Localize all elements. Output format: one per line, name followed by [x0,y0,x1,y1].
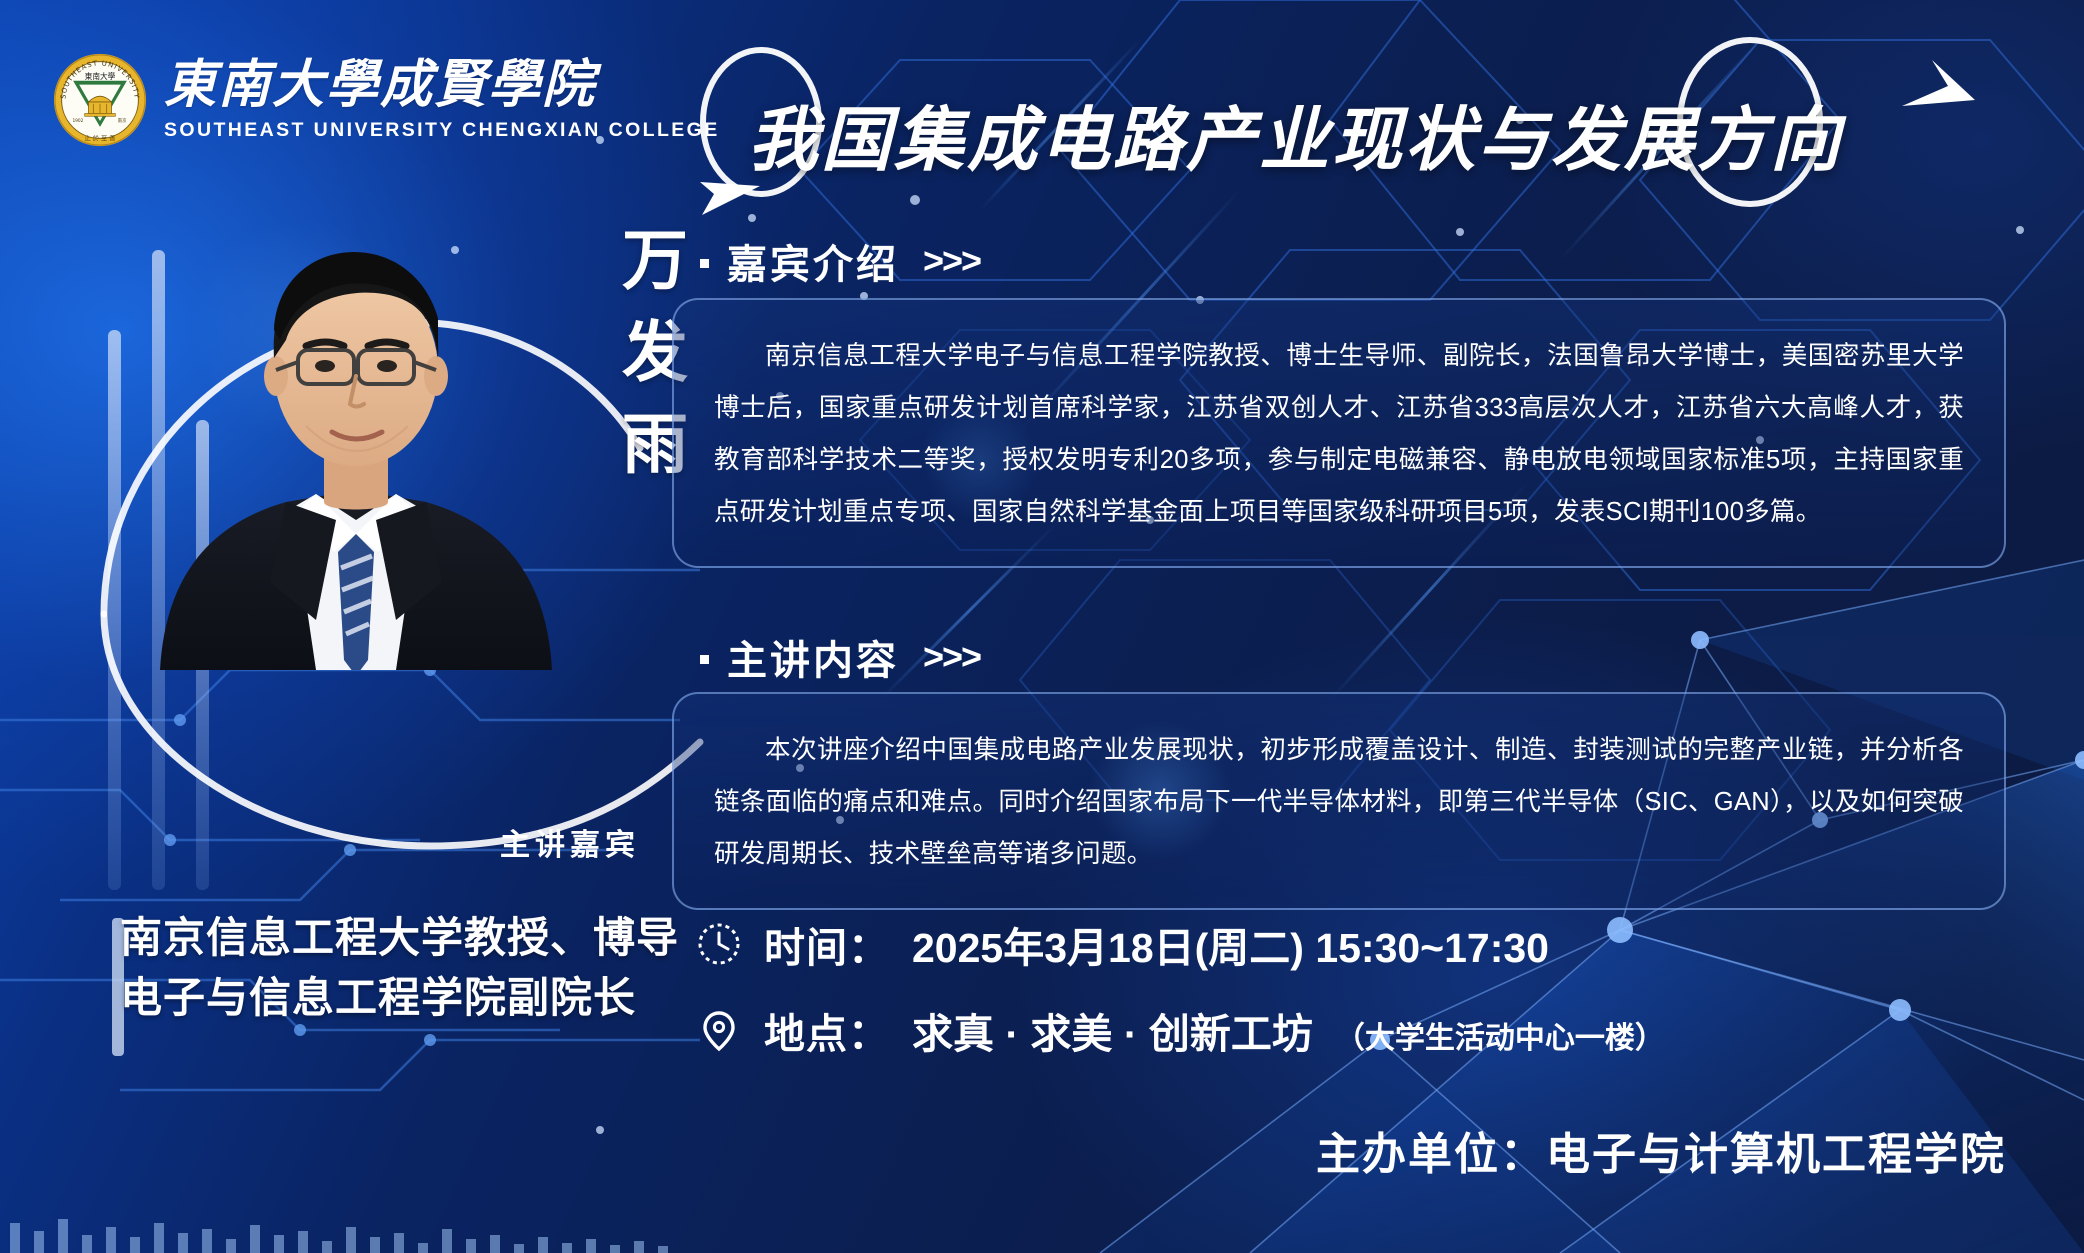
info-row-place: 地点： 求真 · 求美 · 创新工坊 （大学生活动中心一楼） [696,1000,1665,1060]
chevrons-right-icon: >>> [923,636,980,678]
time-value: 2025年3月18日(周二) 15:30~17:30 [912,914,1549,974]
svg-text:止 於 至 善: 止 於 至 善 [85,134,116,142]
info-row-time: 时间： 2025年3月18日(周二) 15:30~17:30 [696,914,1549,974]
section-heading-guest: 嘉宾介绍 >>> [700,232,980,290]
location-pin-icon [696,1007,742,1053]
place-note: （大学生活动中心一楼） [1335,1013,1665,1057]
clock-icon [696,921,742,967]
panel-guest-intro: 南京信息工程大学电子与信息工程学院教授、博士生导师、副院长，法国鲁昂大学博士，美… [672,298,2006,568]
college-name-en: SOUTHEAST UNIVERSITY CHENGXIAN COLLEGE [164,121,720,141]
svg-text:東南大學: 東南大學 [85,71,116,81]
university-seal-icon: 東南大學 止 於 至 善 1902 南京 SOUTHEAST UNIVERSIT… [52,52,148,148]
section-bullet-icon [700,655,709,664]
guest-intro-text: 南京信息工程大学电子与信息工程学院教授、博士生导师、副院长，法国鲁昂大学博士，美… [674,300,2004,566]
speaker-role-tag: 主讲嘉宾 [500,820,640,864]
speaker-portrait [120,190,590,670]
chevrons-right-icon: >>> [923,240,980,282]
time-label: 时间： [764,914,890,974]
page-title: 我国集成电路产业现状与发展方向 [748,84,1843,185]
section-heading-content: 主讲内容 >>> [700,628,980,686]
bottom-bar-decoration [0,1217,2084,1253]
college-name-cn: 東南大學成賢學院 [164,60,720,112]
title-block: 我国集成电路产业现状与发展方向 [700,78,2020,188]
speaker-title-line-2: 电子与信息工程学院副院长 [120,970,760,1030]
place-label: 地点： [764,1000,890,1060]
section-label-content: 主讲内容 [727,628,899,686]
speaker-title-line-1: 南京信息工程大学教授、博导 [120,910,760,970]
poster-root: 東南大學 止 於 至 善 1902 南京 SOUTHEAST UNIVERSIT… [0,0,2084,1253]
organizer-line: 主办单位：电子与计算机工程学院 [1316,1118,2006,1182]
lecture-content-text: 本次讲座介绍中国集成电路产业发展现状，初步形成覆盖设计、制造、封装测试的完整产业… [674,694,2004,908]
section-label-guest: 嘉宾介绍 [727,232,899,290]
section-bullet-icon [700,259,709,268]
panel-lecture-content: 本次讲座介绍中国集成电路产业发展现状，初步形成覆盖设计、制造、封装测试的完整产业… [672,692,2006,910]
svg-text:1902: 1902 [72,118,83,124]
speaker-titles: 南京信息工程大学教授、博导 电子与信息工程学院副院长 [120,910,760,1029]
place-value: 求真 · 求美 · 创新工坊 [912,1000,1313,1060]
college-logo: 東南大學 止 於 至 善 1902 南京 SOUTHEAST UNIVERSIT… [52,52,720,148]
